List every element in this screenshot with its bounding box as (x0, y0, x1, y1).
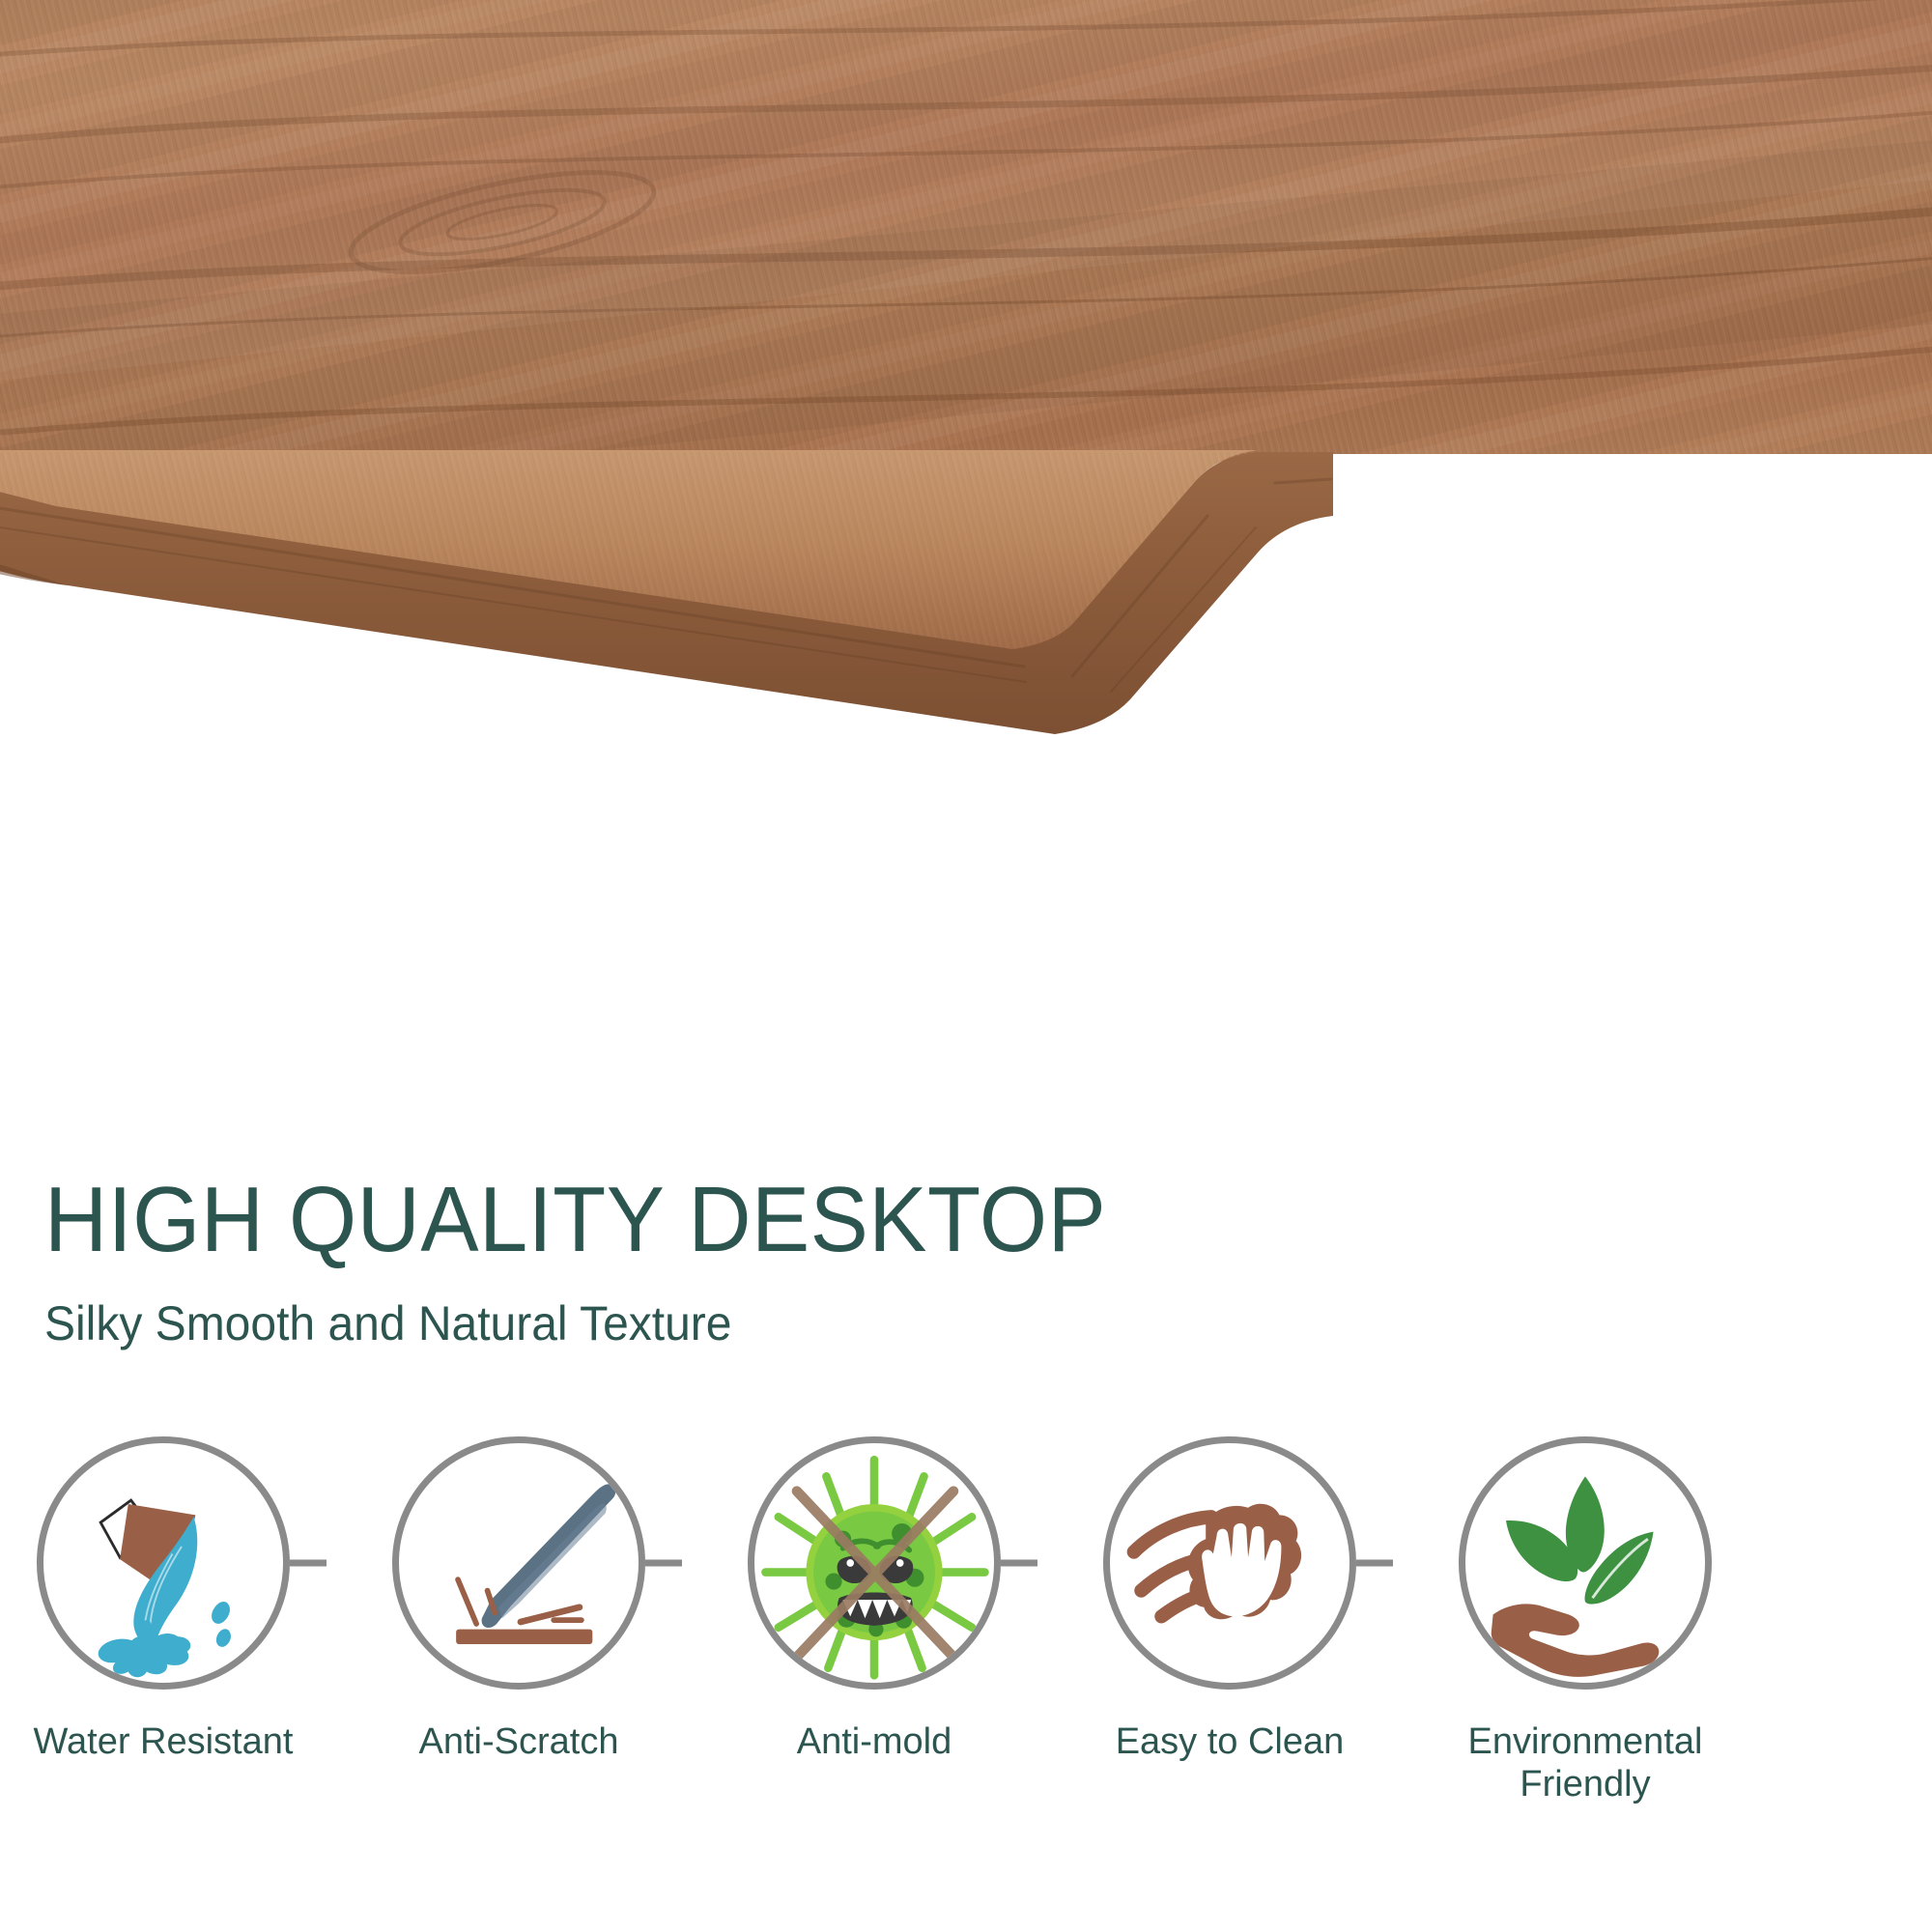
page-subtitle: Silky Smooth and Natural Texture (44, 1266, 1621, 1348)
feature-item-environmental-friendly[interactable]: Environmental Friendly (1440, 1428, 1730, 1805)
knife-scratch-icon (399, 1443, 639, 1683)
feature-label: Water Resistant (18, 1720, 308, 1763)
feature-label: Anti-mold (729, 1720, 1019, 1763)
feature-circle (37, 1436, 290, 1690)
headline-block: HIGH QUALITY DESKTOP Silky Smooth and Na… (44, 1174, 1687, 1348)
feature-label: Easy to Clean (1085, 1720, 1375, 1763)
feature-circle (1459, 1436, 1712, 1690)
hand-leaf-icon (1465, 1443, 1705, 1683)
feature-row: Water Resistant (0, 1428, 1932, 1932)
wood-desktop-illustration (0, 0, 1932, 898)
feature-item-anti-scratch[interactable]: Anti-Scratch (374, 1428, 664, 1763)
feature-label: Anti-Scratch (374, 1720, 664, 1763)
feature-circle (748, 1436, 1001, 1690)
page-title: HIGH QUALITY DESKTOP (44, 1174, 1588, 1266)
feature-item-anti-mold[interactable]: Anti-mold (729, 1428, 1019, 1763)
hand-wipe-icon (1110, 1443, 1350, 1683)
feature-item-water-resistant[interactable]: Water Resistant (18, 1428, 308, 1763)
water-pour-icon (43, 1443, 283, 1683)
feature-label: Environmental Friendly (1440, 1720, 1730, 1805)
product-hero-image (0, 0, 1932, 898)
feature-circle (1103, 1436, 1356, 1690)
feature-circle (392, 1436, 645, 1690)
feature-item-easy-to-clean[interactable]: Easy to Clean (1085, 1428, 1375, 1763)
germ-crossed-icon (754, 1443, 994, 1683)
